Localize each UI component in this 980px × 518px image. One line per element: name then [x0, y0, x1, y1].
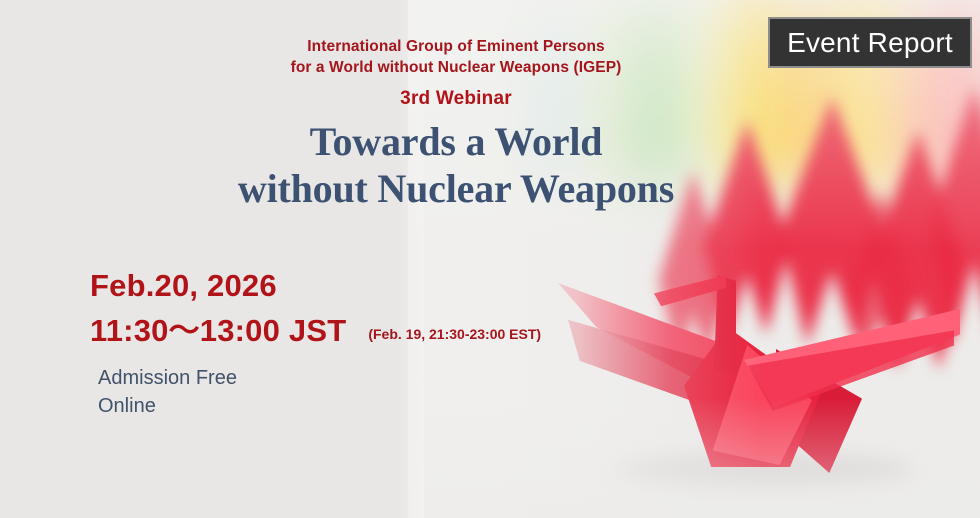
session-label: 3rd Webinar: [0, 88, 912, 110]
event-report-badge: Event Report: [768, 17, 972, 68]
event-date: Feb.20, 2026: [90, 268, 277, 304]
event-report-badge-label: Event Report: [787, 29, 953, 57]
page-title-line-2: without Nuclear Weapons: [0, 165, 912, 212]
event-time-row: 11:30〜13:00 JST (Feb. 19, 21:30-23:00 ES…: [90, 305, 541, 350]
event-time-est: (Feb. 19, 21:30-23:00 EST): [368, 326, 541, 342]
admission-label: Admission Free: [98, 364, 237, 392]
event-report-poster: International Group of Eminent Persons f…: [0, 0, 980, 518]
event-info: Admission Free Online: [98, 364, 237, 420]
page-title: Towards a World without Nuclear Weapons: [0, 118, 912, 212]
photo-bottom-fade-overlay: [408, 398, 980, 518]
page-title-line-1: Towards a World: [0, 118, 912, 165]
event-time-jst: 11:30〜13:00 JST: [90, 305, 346, 350]
format-label: Online: [98, 392, 237, 420]
